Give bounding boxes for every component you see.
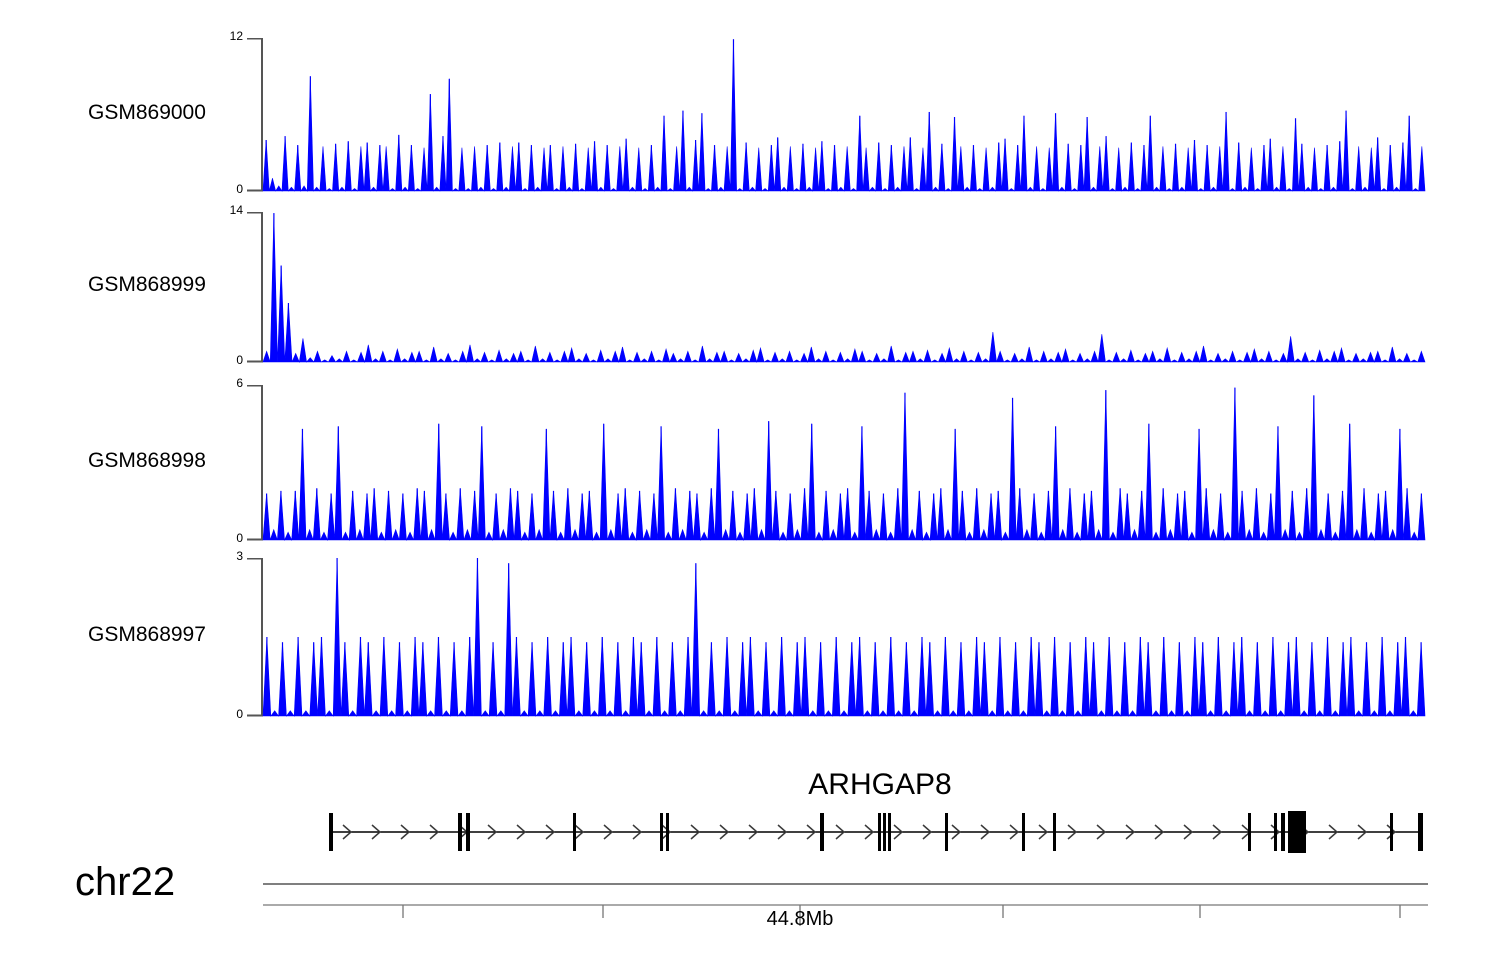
exon-tick — [329, 813, 333, 851]
exon-tick — [878, 813, 881, 851]
exon-tick — [1390, 813, 1393, 851]
coverage-plot-gsm868998[interactable] — [0, 385, 1445, 546]
exon-tick — [1418, 813, 1423, 851]
exon-tick — [945, 813, 948, 851]
exon-tick — [888, 813, 891, 851]
coverage-area — [263, 388, 1425, 540]
exon-tick — [660, 813, 663, 851]
exon-tick — [820, 813, 824, 851]
exon-tick — [573, 813, 576, 851]
coverage-plot-gsm869000[interactable] — [0, 38, 1445, 197]
coverage-area — [263, 213, 1425, 362]
gene-model-svg — [0, 760, 1500, 870]
exon-tick — [1281, 813, 1285, 851]
exon-tick — [1274, 813, 1277, 851]
ruler-tick-label: 44.8Mb — [700, 908, 900, 931]
gene-model-track[interactable]: ARHGAP8 — [0, 760, 1500, 870]
coverage-area — [263, 558, 1425, 716]
coding-exon-block — [1288, 811, 1306, 853]
exon-tick — [883, 813, 886, 851]
exon-tick — [1248, 813, 1251, 851]
y-axis-bracket — [247, 213, 262, 362]
exon-tick — [1022, 813, 1025, 851]
exon-tick — [666, 813, 669, 851]
chromosome-ruler[interactable]: chr22 44.8Mb — [0, 870, 1500, 980]
y-axis-bracket — [247, 39, 262, 191]
y-axis-bracket — [247, 386, 262, 540]
genome-browser-view: GSM869000120GSM868999140GSM86899860GSM86… — [0, 0, 1500, 980]
coverage-plot-gsm868999[interactable] — [0, 212, 1445, 368]
exon-tick — [458, 813, 462, 851]
exon-tick — [466, 813, 470, 851]
exon-tick — [1053, 813, 1056, 851]
coverage-plot-gsm868997[interactable] — [0, 558, 1445, 722]
y-axis-bracket — [247, 559, 262, 716]
gene-model-diagram[interactable] — [0, 760, 1500, 870]
ruler-tick-group — [403, 905, 1400, 926]
coverage-area — [263, 39, 1425, 191]
